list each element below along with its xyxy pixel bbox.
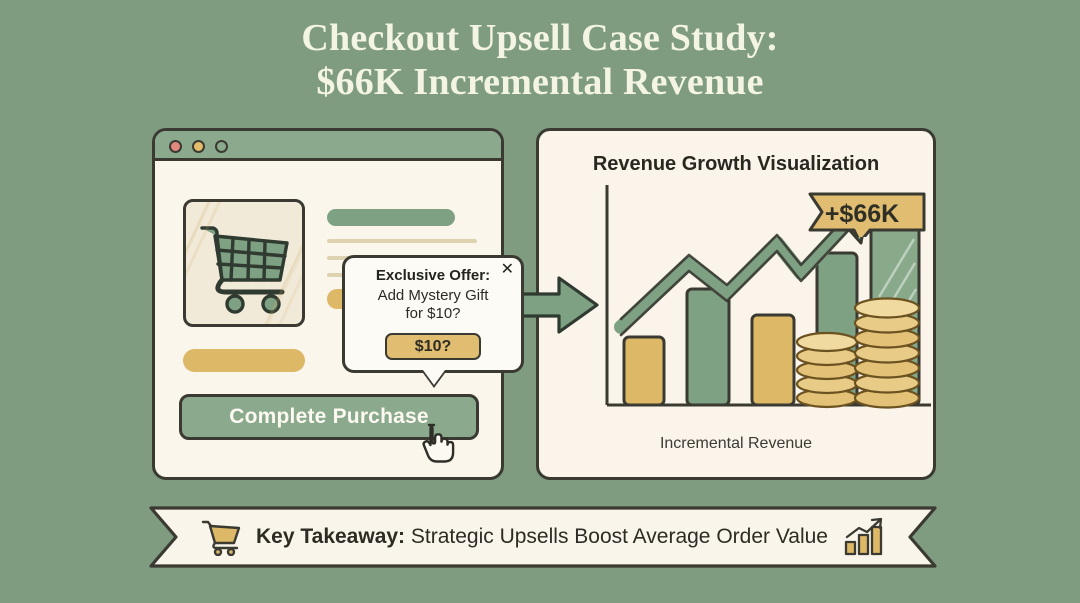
product-text-line-1 <box>327 239 477 243</box>
key-takeaway-ribbon: Key Takeaway: Strategic Upsells Boost Av… <box>148 505 938 569</box>
coin-stack-right <box>855 299 919 408</box>
coin-stack-left <box>797 333 857 407</box>
window-maximize-dot[interactable] <box>215 140 228 153</box>
product-image-thumbnail <box>183 199 305 327</box>
key-takeaway-text: Key Takeaway: Strategic Upsells Boost Av… <box>256 525 828 549</box>
revenue-badge: +$66K <box>808 192 926 237</box>
key-takeaway-label: Key Takeaway: <box>256 525 405 548</box>
chart-title: Revenue Growth Visualization <box>539 153 933 176</box>
pointing-hand-cursor-icon <box>421 418 461 464</box>
product-title-placeholder <box>327 209 455 226</box>
page-title-line-1: Checkout Upsell Case Study: <box>301 17 778 59</box>
sketch-sheen <box>186 202 302 324</box>
page-title: Checkout Upsell Case Study: $66K Increme… <box>0 16 1080 104</box>
offer-accept-button[interactable]: $10? <box>385 333 481 360</box>
offer-title: Exclusive Offer: <box>355 267 511 285</box>
offer-body-line-1: Add Mystery Gift <box>355 286 511 305</box>
shopping-cart-icon <box>200 518 242 556</box>
secondary-gold-placeholder <box>183 349 305 372</box>
offer-body-line-2: for $10? <box>355 304 511 323</box>
revenue-badge-label: +$66K <box>808 192 926 237</box>
window-minimize-dot[interactable] <box>192 140 205 153</box>
key-takeaway-body: Strategic Upsells Boost Average Order Va… <box>405 525 828 548</box>
window-close-dot[interactable] <box>169 140 182 153</box>
popup-tail <box>423 370 445 385</box>
browser-title-bar <box>155 131 501 161</box>
bar-1 <box>624 337 664 405</box>
chart-x-axis-label: Incremental Revenue <box>539 435 933 453</box>
page-title-line-2: $66K Incremental Revenue <box>0 60 1080 104</box>
bar-3 <box>752 315 794 405</box>
bar-2 <box>687 289 729 405</box>
bar-chart-growth-icon <box>842 517 886 557</box>
upsell-offer-popup: ✕ Exclusive Offer: Add Mystery Gift for … <box>342 255 524 373</box>
close-x-icon[interactable]: ✕ <box>501 262 514 278</box>
